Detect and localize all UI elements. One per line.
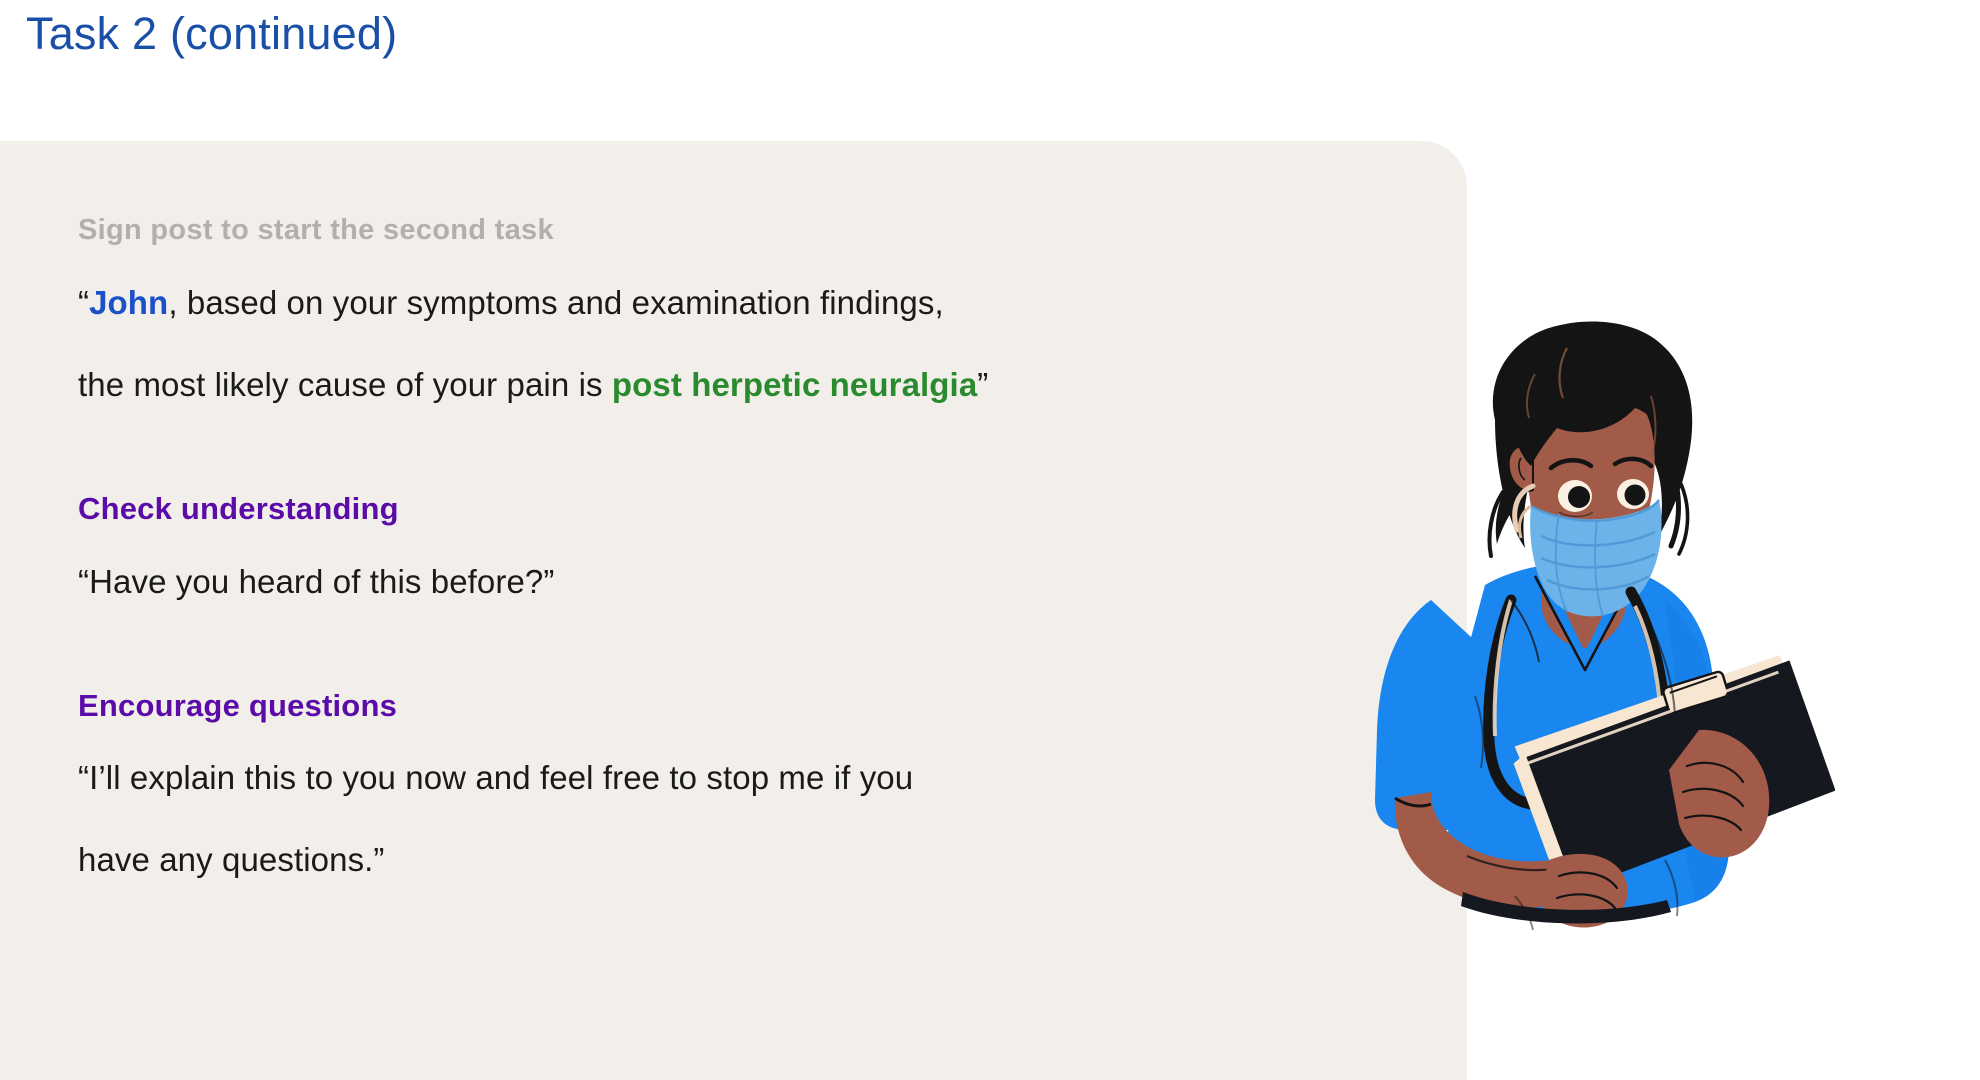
quote-line-1-rest: , based on your symptoms and examination… <box>168 284 943 321</box>
quote-line-2-prefix: the most likely cause of your pain is <box>78 366 612 403</box>
encourage-questions-line-2: have any questions.” <box>78 841 385 879</box>
quote-line-1: “John, based on your symptoms and examin… <box>78 284 944 322</box>
section-heading-check-understanding: Check understanding <box>78 491 399 527</box>
patient-name: John <box>89 284 168 321</box>
open-quote-mark: “ <box>78 284 89 321</box>
encourage-questions-line-1: “I’ll explain this to you now and feel f… <box>78 759 913 797</box>
check-understanding-line-1: “Have you heard of this before?” <box>78 563 554 601</box>
content-card: Sign post to start the second task “John… <box>0 141 1467 1080</box>
quote-line-2: the most likely cause of your pain is po… <box>78 366 988 404</box>
diagnosis-term: post herpetic neuralgia <box>612 366 977 403</box>
signpost-label: Sign post to start the second task <box>78 214 554 247</box>
section-heading-encourage-questions: Encourage questions <box>78 688 397 724</box>
healthcare-worker-illustration <box>1335 300 1835 940</box>
page-title: Task 2 (continued) <box>26 8 397 60</box>
close-quote-mark: ” <box>977 366 988 403</box>
